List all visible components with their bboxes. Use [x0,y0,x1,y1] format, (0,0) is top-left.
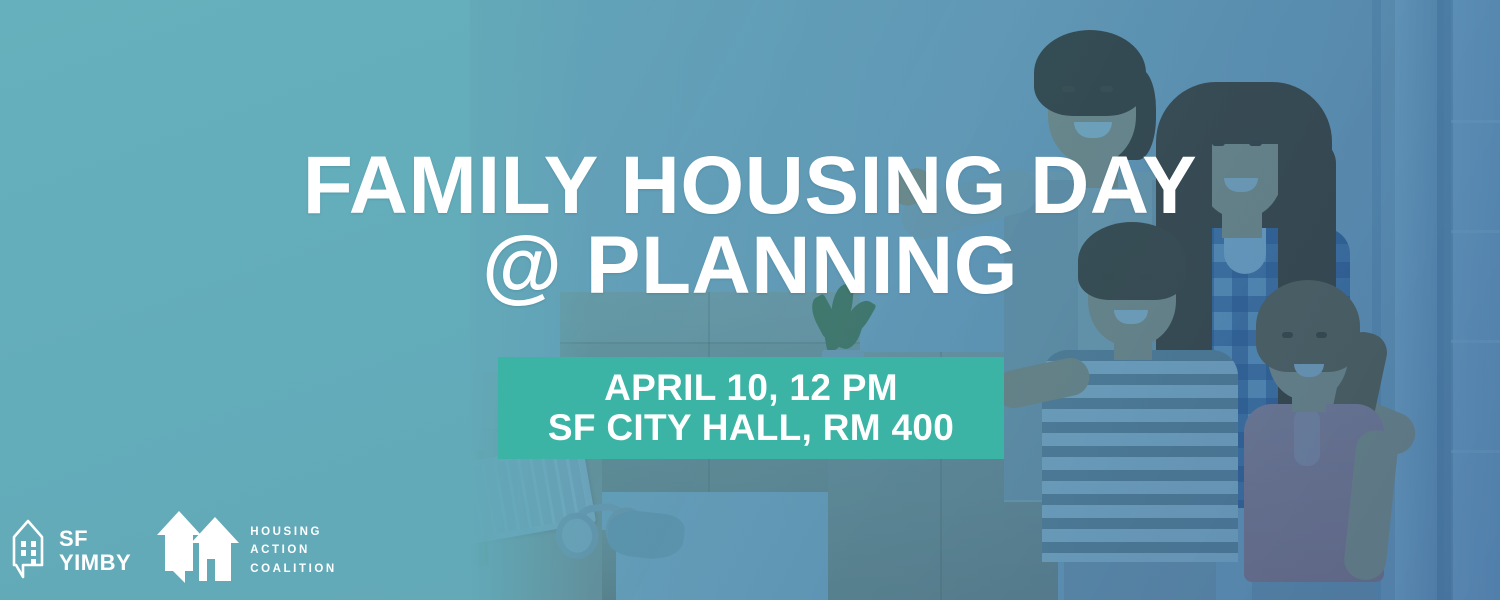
logo-sf-yimby-text: SF YIMBY [59,527,131,574]
two-houses-icon [157,509,239,592]
headline-line-2: @ PLANNING [0,226,1500,306]
event-location: SF CITY HALL, RM 400 [548,408,954,448]
logo-sf-yimby-line-1: SF [59,527,131,550]
event-details-badge: APRIL 10, 12 PM SF CITY HALL, RM 400 [498,357,1004,459]
event-promo-banner: FAMILY HOUSING DAY @ PLANNING APRIL 10, … [0,0,1500,600]
page-title: FAMILY HOUSING DAY @ PLANNING [0,146,1500,307]
logo-housing-action-coalition: HOUSING ACTION COALITION [157,509,337,592]
logo-sf-yimby: SF YIMBY [8,515,131,586]
logo-hac-line-3: COALITION [250,560,337,579]
event-datetime: APRIL 10, 12 PM [604,368,898,408]
sponsor-logos: SF YIMBY HOUSING ACTION COALITION [8,509,337,592]
building-speech-bubble-icon [8,515,48,586]
logo-hac-line-2: ACTION [250,541,337,560]
logo-hac-text: HOUSING ACTION COALITION [250,523,337,579]
logo-hac-line-1: HOUSING [250,523,337,542]
headline-line-1: FAMILY HOUSING DAY [303,140,1198,231]
logo-sf-yimby-line-2: YIMBY [59,551,131,574]
